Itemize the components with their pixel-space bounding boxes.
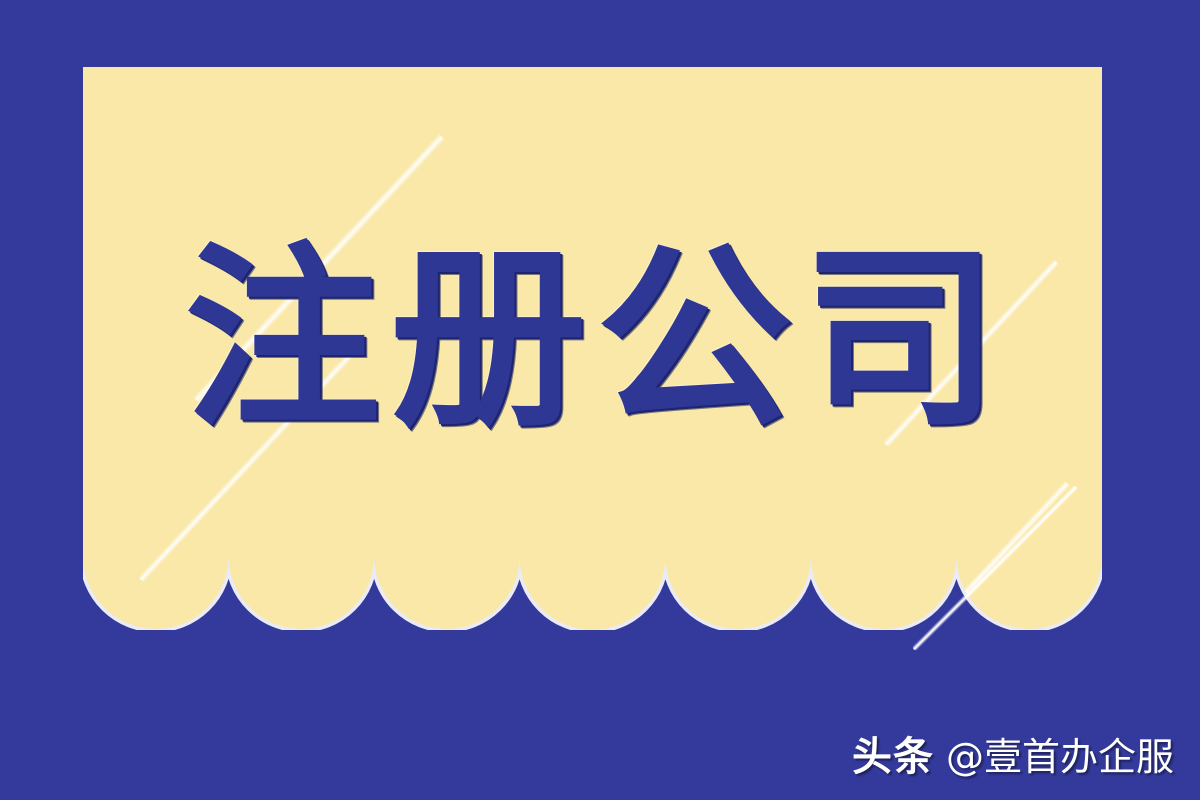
poster-canvas: 注册公司 头条 @壹首办企服: [0, 0, 1200, 800]
cream-card: 注册公司: [83, 67, 1102, 630]
scalloped-card-shape: [83, 67, 1102, 630]
watermark-handle: @壹首办企服: [946, 726, 1174, 781]
watermark: 头条 @壹首办企服: [852, 724, 1174, 782]
watermark-brand: 头条: [852, 724, 934, 782]
